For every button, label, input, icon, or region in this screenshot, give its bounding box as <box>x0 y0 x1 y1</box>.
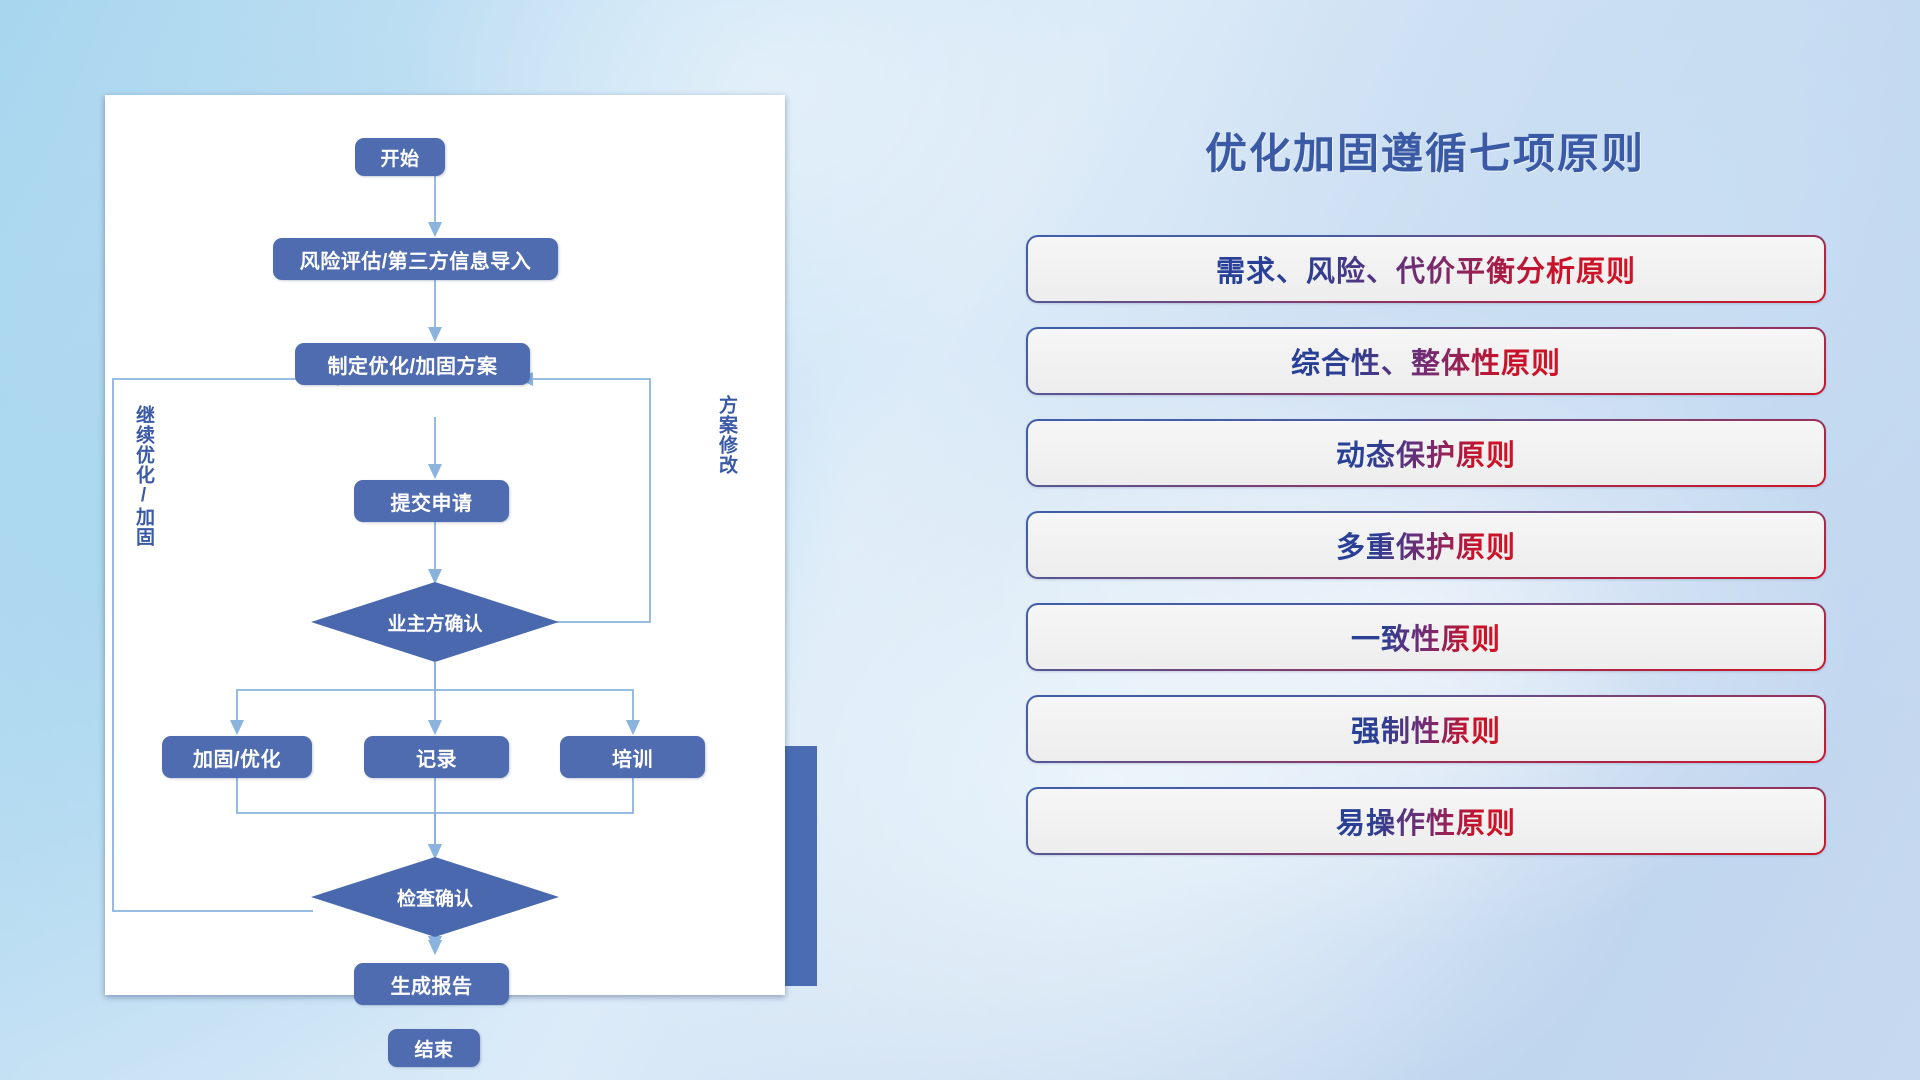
page-title: 优化加固遵循七项原则 <box>1010 120 1840 181</box>
flow-node-submit[interactable]: 提交申请 <box>354 480 509 522</box>
flow-node-training-label: 培训 <box>612 743 653 772</box>
principle-card-inner: 动态保护原则 <box>1028 421 1824 485</box>
principle-card-5[interactable]: 一致性原则 <box>1026 603 1826 671</box>
principle-card-3[interactable]: 动态保护原则 <box>1026 419 1826 487</box>
principle-card-inner: 易操作性原则 <box>1028 789 1824 853</box>
flow-node-plan-label: 制定优化/加固方案 <box>327 350 497 379</box>
principles-panel: 优化加固遵循七项原则 需求、风险、代价平衡分析原则 综合性、整体性原则 动态保护… <box>1010 95 1840 995</box>
flow-decision-owner-confirm-label: 业主方确认 <box>387 609 482 636</box>
flow-edge-label-right: 方案修改 <box>713 395 740 475</box>
flow-node-reinforce-label: 加固/优化 <box>193 743 281 772</box>
flow-decision-owner-confirm[interactable]: 业主方确认 <box>311 582 559 662</box>
principle-card-inner: 一致性原则 <box>1028 605 1824 669</box>
principle-card-4[interactable]: 多重保护原则 <box>1026 511 1826 579</box>
flow-node-report-label: 生成报告 <box>391 970 473 999</box>
flow-edge-label-left: 继续优化/加固 <box>130 405 157 547</box>
flow-node-training[interactable]: 培训 <box>560 736 705 778</box>
principle-card-4-label: 多重保护原则 <box>1336 524 1516 566</box>
principle-card-6[interactable]: 强制性原则 <box>1026 695 1826 763</box>
flow-node-start[interactable]: 开始 <box>355 138 445 176</box>
flow-node-record[interactable]: 记录 <box>364 736 509 778</box>
principle-card-2-label: 综合性、整体性原则 <box>1291 340 1561 382</box>
principle-card-inner: 强制性原则 <box>1028 697 1824 761</box>
principle-card-2[interactable]: 综合性、整体性原则 <box>1026 327 1826 395</box>
principle-card-7-label: 易操作性原则 <box>1336 800 1516 842</box>
flow-node-end[interactable]: 结束 <box>388 1029 480 1067</box>
flow-node-risk-assessment[interactable]: 风险评估/第三方信息导入 <box>273 238 558 280</box>
flow-decision-inspect-confirm-label: 检查确认 <box>397 884 473 911</box>
principle-card-5-label: 一致性原则 <box>1351 616 1501 658</box>
flow-node-risk-assessment-label: 风险评估/第三方信息导入 <box>300 245 532 274</box>
flow-node-reinforce[interactable]: 加固/优化 <box>162 736 312 778</box>
principles-list: 需求、风险、代价平衡分析原则 综合性、整体性原则 动态保护原则 多重保护原则 一… <box>1026 235 1826 879</box>
flow-node-plan[interactable]: 制定优化/加固方案 <box>295 343 530 385</box>
flow-node-start-label: 开始 <box>380 144 419 171</box>
principle-card-3-label: 动态保护原则 <box>1336 432 1516 474</box>
principle-card-1-label: 需求、风险、代价平衡分析原则 <box>1216 248 1636 290</box>
principle-card-6-label: 强制性原则 <box>1351 708 1501 750</box>
flow-node-record-label: 记录 <box>416 743 457 772</box>
principle-card-inner: 多重保护原则 <box>1028 513 1824 577</box>
principle-card-1[interactable]: 需求、风险、代价平衡分析原则 <box>1026 235 1826 303</box>
flow-node-end-label: 结束 <box>414 1035 453 1062</box>
flow-node-report[interactable]: 生成报告 <box>354 963 509 1005</box>
principle-card-inner: 需求、风险、代价平衡分析原则 <box>1028 237 1824 301</box>
flowchart-panel: 开始 风险评估/第三方信息导入 制定优化/加固方案 提交申请 业主方确认 加固/… <box>105 95 785 995</box>
flow-node-submit-label: 提交申请 <box>391 487 473 516</box>
flow-decision-inspect-confirm[interactable]: 检查确认 <box>311 857 559 937</box>
principle-card-7[interactable]: 易操作性原则 <box>1026 787 1826 855</box>
principle-card-inner: 综合性、整体性原则 <box>1028 329 1824 393</box>
